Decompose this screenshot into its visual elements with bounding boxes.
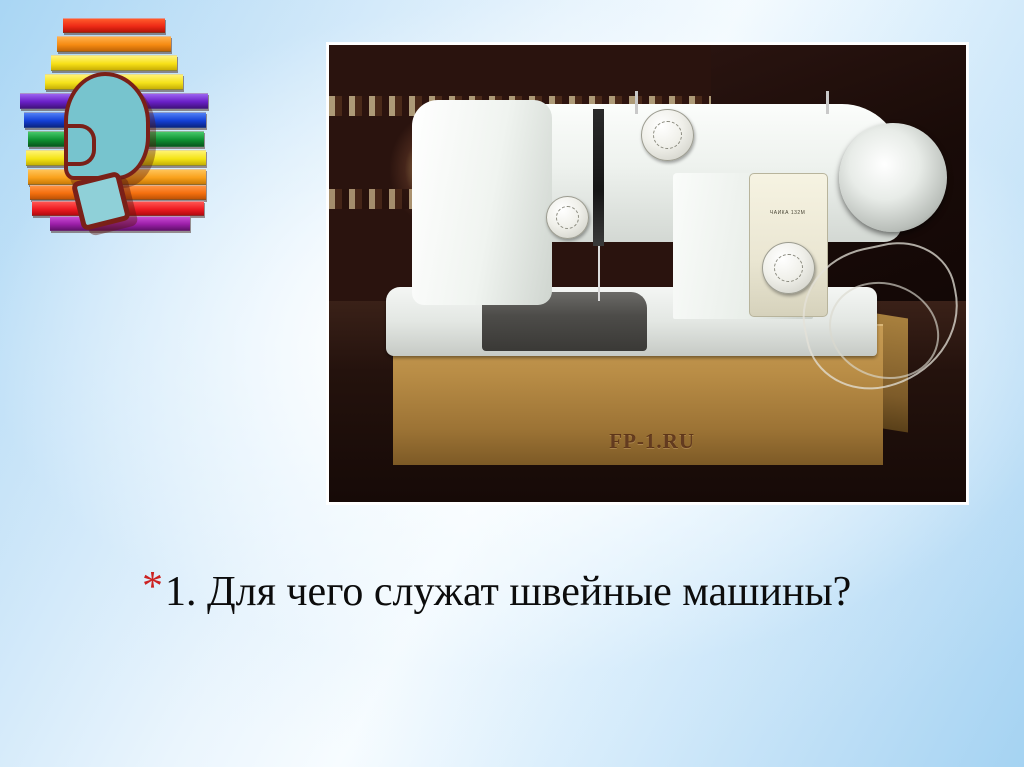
photo-hand-wheel: [839, 123, 947, 233]
question-text: 1. Для чего служат швейные машины?: [165, 570, 851, 615]
question-mark-rainbow-logo: [18, 16, 210, 224]
photo-needle-bar: [593, 109, 603, 246]
logo-bar-yellow-1: [51, 55, 177, 71]
logo-bar-orange-1: [57, 36, 171, 52]
photo-spool-pin-right: [826, 91, 829, 114]
question-mark-notch: [66, 124, 96, 166]
question-mark-icon: [64, 72, 146, 176]
sewing-machine-photo: ЧАЙКА 132М FP-1.RU: [329, 45, 966, 502]
slide-bullet-line: * 1. Для чего служат швейные машины?: [142, 570, 851, 615]
photo-machine-brand-label: ЧАЙКА 132М: [756, 210, 820, 216]
photo-stitch-selector-dial: [641, 109, 694, 161]
photo-spool-pin-left: [635, 91, 638, 114]
photo-watermark: FP-1.RU: [609, 429, 695, 454]
logo-bar-red-1: [63, 18, 165, 33]
sewing-machine-photo-frame: ЧАЙКА 132М FP-1.RU: [327, 43, 968, 504]
photo-machine-head: [412, 100, 552, 306]
photo-needle: [598, 246, 601, 301]
presentation-slide: ЧАЙКА 132М FP-1.RU * 1. Для чего служат …: [0, 0, 1024, 767]
asterisk-bullet-icon: *: [142, 566, 163, 608]
photo-tension-dial: [546, 196, 589, 239]
photo-stitch-length-dial: [762, 242, 815, 294]
